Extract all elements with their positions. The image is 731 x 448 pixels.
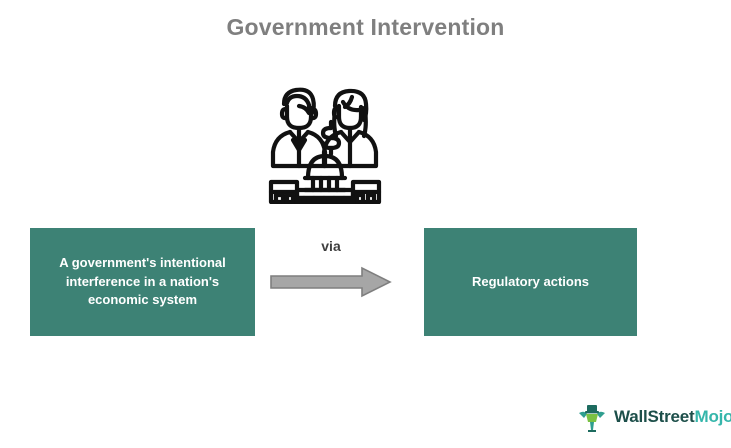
- slide-canvas: Government Intervention: [0, 0, 731, 448]
- mechanism-box: Regulatory actions: [424, 228, 637, 336]
- government-officials-capitol-icon: [263, 82, 387, 204]
- brand-wordmark: WallStreetMojo: [614, 407, 731, 427]
- flow-connector: via: [268, 238, 394, 300]
- connector-label: via: [268, 238, 394, 254]
- wallstreetmojo-mark-icon: [576, 401, 608, 433]
- right-arrow-icon: [270, 266, 392, 298]
- brand-name-primary: WallStreet: [614, 407, 695, 426]
- mechanism-box-label: Regulatory actions: [458, 273, 603, 292]
- page-title: Government Intervention: [0, 14, 731, 41]
- definition-box: A government's intentional interference …: [30, 228, 255, 336]
- definition-box-label: A government's intentional interference …: [30, 254, 255, 311]
- brand-name-accent: Mojo: [695, 407, 731, 426]
- brand-logo[interactable]: WallStreetMojo: [576, 400, 731, 434]
